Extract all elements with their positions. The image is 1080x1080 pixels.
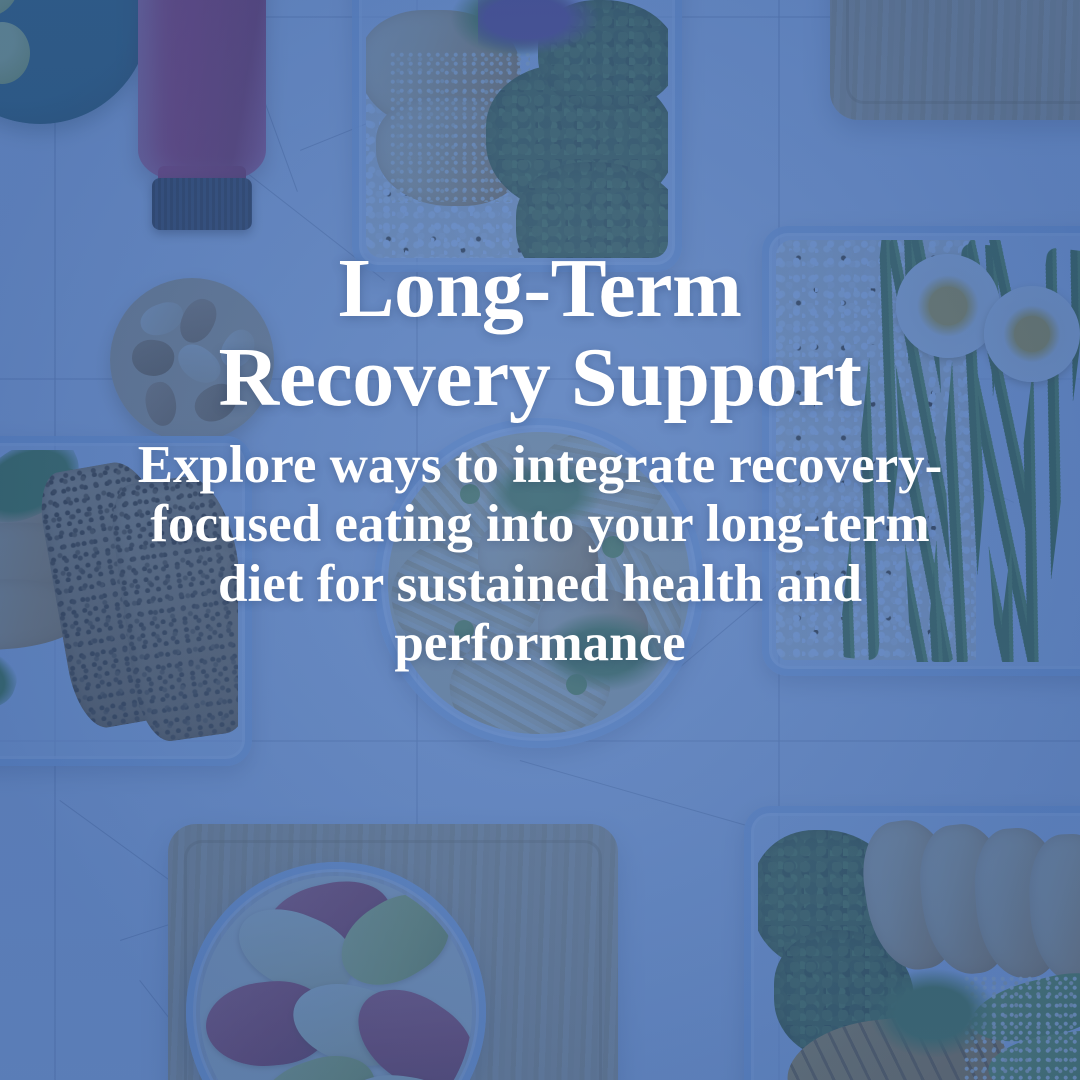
headline-line-2: Recovery Support: [40, 333, 1040, 422]
text-layer: Long-Term Recovery Support Explore ways …: [0, 0, 1080, 1080]
social-graphic-canvas: Long-Term Recovery Support Explore ways …: [0, 0, 1080, 1080]
page-title: Long-Term Recovery Support: [40, 244, 1040, 422]
headline-line-1: Long-Term: [40, 244, 1040, 333]
subheadline: Explore ways to integrate recovery-focus…: [110, 436, 970, 673]
